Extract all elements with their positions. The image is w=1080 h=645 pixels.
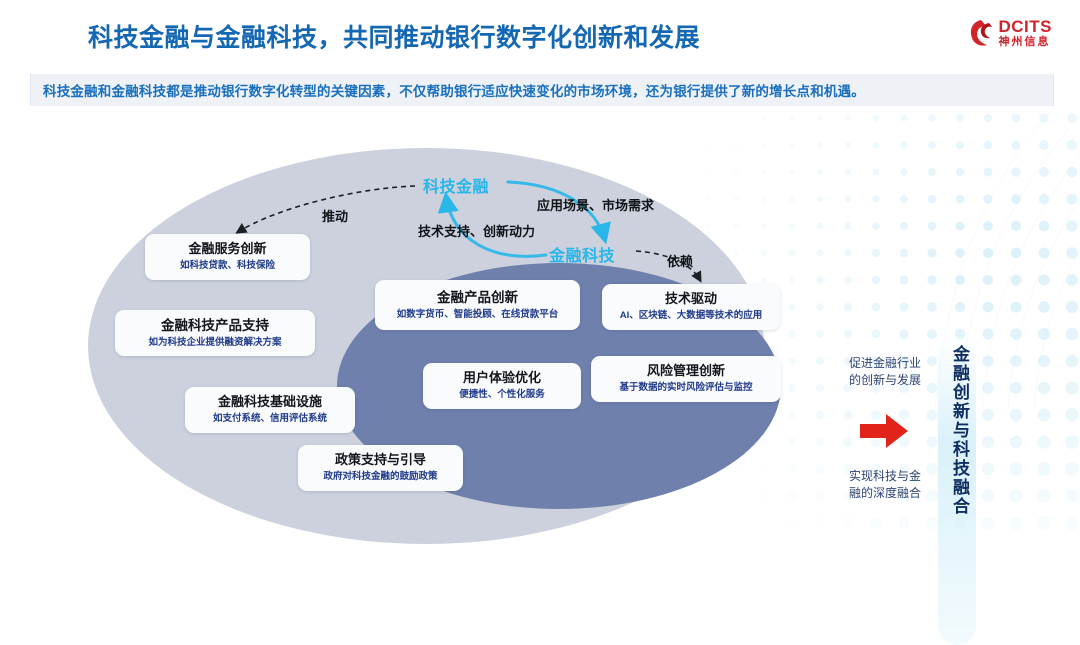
card-technology-driven[interactable]: 技术驱动 AI、区块链、大数据等技术的应用 (602, 284, 780, 330)
subtitle-text: 科技金融和金融科技都是推动银行数字化转型的关键因素，不仅帮助银行适应快速变化的市… (31, 80, 865, 100)
page-header: 科技金融与金融科技，共同推动银行数字化创新和发展 DCITS 神州信息 (0, 0, 1080, 68)
card-subtitle: 政府对科技金融的鼓励政策 (323, 471, 437, 482)
brand-logo: DCITS 神州信息 (968, 18, 1053, 48)
dcits-swirl-icon (968, 19, 994, 47)
card-title: 风险管理创新 (647, 364, 725, 379)
card-financial-service-innovation[interactable]: 金融服务创新 如科技贷款、科技保险 (145, 234, 310, 280)
node-label-jrkj: 金融科技 (549, 242, 615, 266)
card-title: 政策支持与引导 (335, 453, 426, 468)
card-subtitle: 如数字货币、智能投顾、在线贷款平台 (397, 309, 559, 320)
card-subtitle: 如为科技企业提供融资解决方案 (148, 337, 281, 348)
page-title: 科技金融与金融科技，共同推动银行数字化创新和发展 (88, 18, 700, 54)
card-subtitle: 便捷性、个性化服务 (459, 389, 545, 400)
card-user-experience-optimization[interactable]: 用户体验优化 便捷性、个性化服务 (423, 363, 581, 409)
flow-label-yilai: 依赖 (667, 251, 693, 270)
card-fintech-infrastructure[interactable]: 金融科技基础设施 如支付系统、信用评估系统 (185, 387, 355, 433)
right-text-bottom: 实现科技与金 融的深度融合 (830, 468, 940, 503)
card-title: 金融产品创新 (437, 290, 518, 306)
diagram-canvas: 科技金融 金融科技 推动 应用场景、市场需求 技术支持、创新动力 依赖 金融服务… (0, 110, 1080, 540)
logo-text-cn: 神州信息 (999, 37, 1053, 48)
flow-label-jishu: 技术支持、创新动力 (418, 221, 535, 240)
node-label-kjjr: 科技金融 (423, 173, 489, 197)
right-text-top: 促进金融行业 的创新与发展 (830, 355, 940, 390)
right-vertical-title: 金融创新与科技融合 (942, 345, 972, 516)
card-financial-product-innovation[interactable]: 金融产品创新 如数字货币、智能投顾、在线贷款平台 (375, 280, 580, 330)
card-subtitle: 如科技贷款、科技保险 (180, 260, 275, 271)
card-subtitle: AI、区块链、大数据等技术的应用 (620, 310, 763, 321)
flow-label-yingyong: 应用场景、市场需求 (537, 195, 654, 214)
card-title: 金融科技产品支持 (161, 318, 269, 334)
logo-text-en: DCITS (999, 18, 1053, 35)
card-subtitle: 基于数据的实时风险评估与监控 (619, 382, 752, 393)
subtitle-band: 科技金融和金融科技都是推动银行数字化转型的关键因素，不仅帮助银行适应快速变化的市… (30, 74, 1054, 106)
right-arrow-icon (858, 411, 910, 451)
card-title: 金融科技基础设施 (218, 395, 322, 410)
card-subtitle: 如支付系统、信用评估系统 (213, 413, 327, 424)
flow-label-tuidong: 推动 (322, 206, 348, 225)
right-summary-panel: 促进金融行业 的创新与发展 实现科技与金 融的深度融合 金融创新与科技融合 (820, 225, 1000, 525)
card-risk-management-innovation[interactable]: 风险管理创新 基于数据的实时风险评估与监控 (591, 356, 781, 402)
card-policy-support-guidance[interactable]: 政策支持与引导 政府对科技金融的鼓励政策 (298, 445, 463, 491)
card-title: 技术驱动 (665, 292, 717, 307)
card-title: 金融服务创新 (188, 242, 266, 257)
card-title: 用户体验优化 (463, 371, 541, 386)
card-fintech-product-support[interactable]: 金融科技产品支持 如为科技企业提供融资解决方案 (115, 310, 315, 356)
